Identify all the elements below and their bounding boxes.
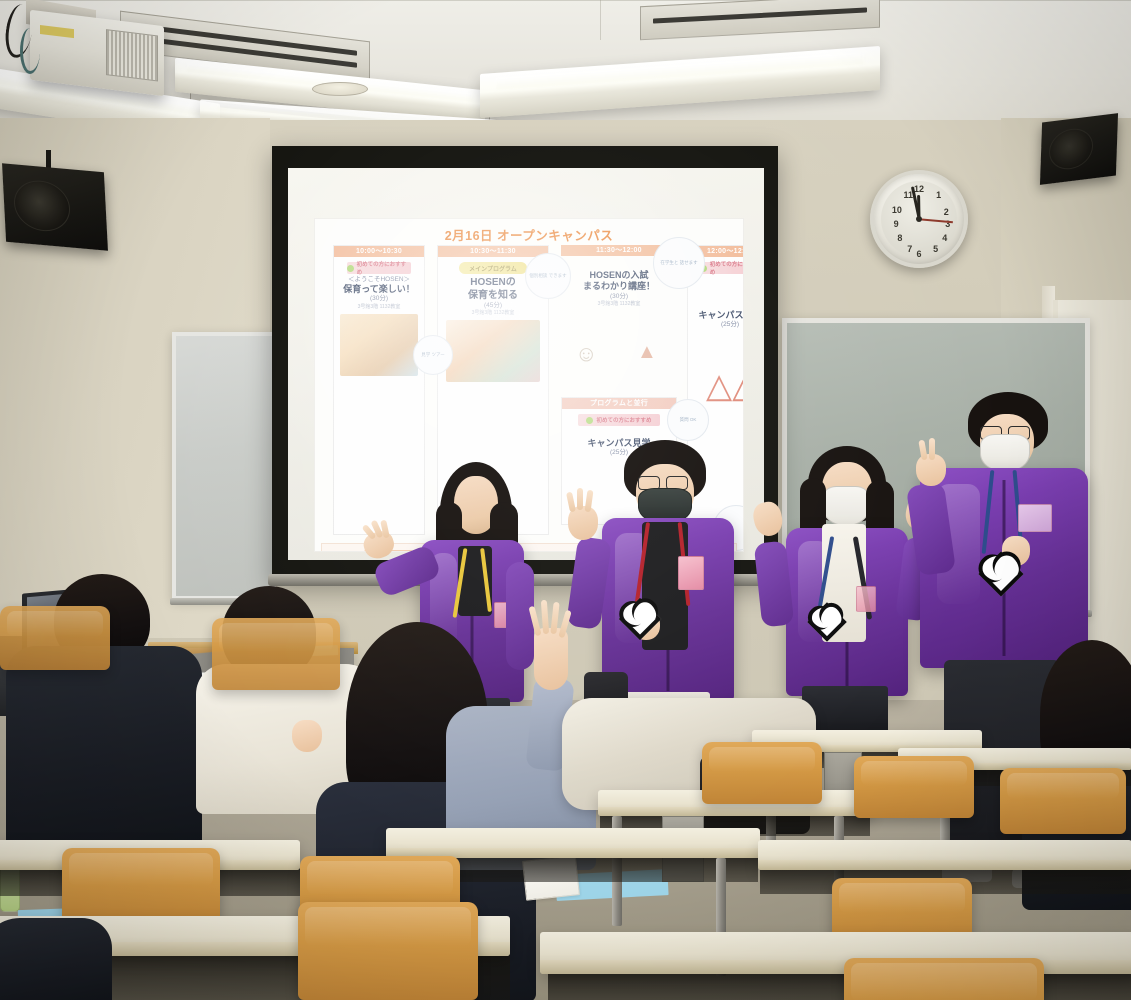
whiteboard-left: [172, 332, 276, 600]
presenter-4-face-mask: [980, 434, 1030, 472]
slide-stick-figure-icon: ☺: [575, 341, 597, 367]
slide-col3-duration: (30分): [561, 293, 677, 301]
chair[interactable]: [702, 742, 822, 804]
slide-col3-sub-label: プログラムと並行: [562, 398, 676, 409]
slide-col1-badge: 初めての方におすすめ: [347, 262, 412, 274]
presenter-3-hand: [751, 499, 785, 538]
chair[interactable]: [1000, 768, 1126, 834]
slide-col1-note: 3号館3階 1132教室: [334, 304, 424, 310]
wall-clock: 12 1 2 3 4 5 6 7 8 9 10 11: [870, 170, 968, 268]
clock-number: 4: [939, 233, 951, 243]
slide-col2-photo: [446, 320, 541, 382]
slide-two-people-icon: △△: [706, 366, 744, 406]
slide-person-icon: ▲: [637, 341, 657, 364]
clock-number: 10: [891, 205, 903, 215]
slide-bubble: 質問 OK: [667, 399, 709, 441]
clock-face: 12 1 2 3 4 5 6 7 8 9 10 11: [881, 181, 957, 257]
projector-vent: [106, 29, 158, 81]
clock-number: 9: [890, 219, 902, 229]
presenter-4-finger: [929, 438, 935, 460]
clock-number: 7: [904, 244, 916, 254]
slide-bubble: 在学生と 話せます: [653, 237, 705, 289]
slide-bubble: 見学 ツアー: [413, 335, 453, 375]
slide-col1-heading: 保育って楽しい！: [334, 284, 424, 295]
slide-col2-duration: (45分): [438, 302, 548, 310]
presenter-2-finger: [566, 492, 576, 513]
projector-cable: [20, 28, 40, 74]
presenter-4-id-badge: [1018, 504, 1052, 532]
clock-number: 2: [940, 207, 952, 217]
chair[interactable]: [0, 606, 110, 670]
slide-col3-note: 3号館3階 1132教室: [561, 301, 677, 307]
slide-col1-duration: (30分): [334, 295, 424, 303]
presenter-2-finger: [577, 488, 583, 510]
desk-row-c: [386, 828, 760, 858]
right-wall-speaker: [1040, 113, 1118, 185]
slide-col1-photo: [340, 314, 417, 376]
chair[interactable]: [298, 902, 478, 1000]
classroom-photo-scene: 12 1 2 3 4 5 6 7 8 9 10 11 2月16日 オープンキャン…: [0, 0, 1131, 1000]
projector-label: [40, 25, 74, 38]
slide-col4-badge: 初めての方におすすめ: [700, 262, 744, 274]
ceiling-downlight: [312, 82, 368, 96]
slide-col3-heading2: まるわかり講座！: [561, 281, 677, 292]
left-wall-speaker: [2, 163, 108, 250]
slide-col3-sub-badge: 初めての方におすすめ: [578, 414, 660, 426]
clock-number: 5: [930, 244, 942, 254]
chair[interactable]: [212, 618, 340, 690]
slide-col2-tag: メインプログラム: [459, 262, 527, 274]
slide-col2-time: 10:30〜11:30: [438, 246, 548, 257]
chair[interactable]: [844, 958, 1044, 1000]
slide-bubble: 個別相談 できます: [525, 253, 571, 299]
clock-center-pin: [916, 216, 922, 222]
desk-row-c2: [758, 840, 1131, 870]
presenter-3-id-badge: [856, 586, 876, 612]
ceiling-tile-line: [0, 0, 1131, 1]
slide-col4-duration: (25分): [688, 321, 744, 329]
slide-col4-heading: キャンパス見学: [688, 310, 744, 321]
ceiling-tile-line: [600, 0, 601, 40]
clock-number: 1: [933, 190, 945, 200]
slide-col1-subheading: ＜ようこそHOSEN＞: [334, 276, 424, 284]
slide-col2-note: 3号館3階 1132教室: [438, 310, 548, 316]
slide-col1-time: 10:00〜10:30: [334, 246, 424, 257]
chair[interactable]: [854, 756, 974, 818]
clock-number: 8: [894, 233, 906, 243]
presenter-3-face-mask: [822, 486, 870, 526]
audience-1-coat: [6, 646, 202, 864]
presenter-2-id-badge: [678, 556, 704, 590]
audience-foreground-shoulder: [0, 918, 112, 1000]
